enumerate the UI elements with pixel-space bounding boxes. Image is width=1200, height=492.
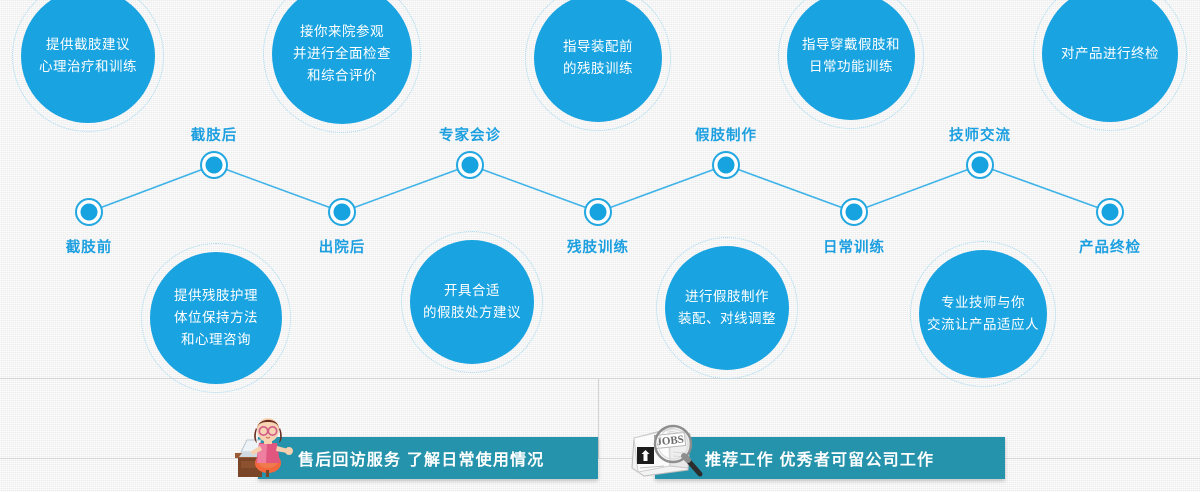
bubble-text-line: 开具合适: [423, 280, 521, 302]
bubble-text: 指导装配前的残肢训练: [557, 36, 639, 81]
bubble-text-line: 的假肢处方建议: [423, 302, 521, 324]
info-bubble-2[interactable]: 接你来院参观并进行全面检查和综合评价: [272, 0, 412, 124]
info-bubble-1[interactable]: 提供截肢建议心理治疗和训练: [21, 0, 155, 123]
bubble-text-line: 和心理咨询: [174, 329, 258, 351]
bubble-text: 开具合适的假肢处方建议: [417, 280, 527, 325]
timeline-node-label-2: 截肢后: [191, 124, 238, 145]
bubble-text-line: 指导装配前: [563, 36, 633, 58]
info-bubble-4[interactable]: 指导穿戴假肢和日常功能训练: [787, 0, 915, 120]
bubble-text: 接你来院参观并进行全面检查和综合评价: [287, 21, 397, 88]
timeline-node-4[interactable]: [456, 151, 484, 179]
timeline-node-label-4: 专家会诊: [439, 124, 501, 145]
banner-service-label: 售后回访服务 了解日常使用情况: [298, 446, 544, 470]
timeline-node-6[interactable]: [712, 151, 740, 179]
bubble-text: 进行假肢制作装配、对线调整: [672, 286, 782, 331]
info-bubble-6[interactable]: 提供残肢护理体位保持方法和心理咨询: [150, 252, 282, 384]
bubble-text-line: 对产品进行终检: [1061, 43, 1159, 65]
timeline-node-7[interactable]: [840, 198, 868, 226]
timeline-node-5[interactable]: [584, 198, 612, 226]
info-bubble-5[interactable]: 对产品进行终检: [1042, 0, 1178, 122]
timeline-node-label-9: 产品终检: [1079, 236, 1141, 257]
timeline-node-1[interactable]: [75, 198, 103, 226]
drop-connector-line: [598, 379, 599, 458]
banner-jobs-label: 推荐工作 优秀者可留公司工作: [705, 446, 934, 470]
banner-after-sales-service[interactable]: 售后回访服务 了解日常使用情况: [258, 437, 598, 479]
info-bubble-7[interactable]: 开具合适的假肢处方建议: [410, 240, 534, 364]
bubble-text: 专业技师与你交流让产品适应人: [921, 292, 1045, 337]
woman-at-desk-icon: [233, 413, 301, 479]
timeline-node-label-7: 日常训练: [823, 236, 885, 257]
timeline-node-9[interactable]: [1096, 198, 1124, 226]
banner-job-recommendation[interactable]: 推荐工作 优秀者可留公司工作: [655, 437, 1005, 479]
info-bubble-9[interactable]: 专业技师与你交流让产品适应人: [919, 250, 1047, 378]
banner-rail-line: [0, 458, 1200, 459]
bubble-text-line: 接你来院参观: [293, 21, 391, 43]
bubble-text-line: 指导穿戴假肢和: [802, 34, 900, 56]
bubble-text-line: 的残肢训练: [563, 58, 633, 80]
timeline-node-3[interactable]: [328, 198, 356, 226]
flowchart-stage: 截肢前截肢后出院后专家会诊残肢训练假肢制作日常训练技师交流产品终检 提供截肢建议…: [0, 0, 1200, 492]
info-bubble-8[interactable]: 进行假肢制作装配、对线调整: [665, 246, 789, 370]
timeline-node-label-1: 截肢前: [66, 236, 113, 257]
bubble-text-line: 专业技师与你: [927, 292, 1039, 314]
bubble-text: 提供截肢建议心理治疗和训练: [33, 34, 143, 79]
timeline-node-2[interactable]: [200, 151, 228, 179]
bubble-text-line: 提供截肢建议: [39, 34, 137, 56]
bubble-text: 对产品进行终检: [1055, 43, 1165, 65]
timeline-node-label-5: 残肢训练: [567, 236, 629, 257]
timeline-node-label-6: 假肢制作: [695, 124, 757, 145]
bubble-dotted-ring: [1033, 0, 1187, 131]
section-divider: [0, 378, 1200, 379]
bubble-text-line: 交流让产品适应人: [927, 314, 1039, 336]
timeline-node-8[interactable]: [966, 151, 994, 179]
bubble-text-line: 心理治疗和训练: [39, 56, 137, 78]
timeline-node-label-3: 出院后: [319, 236, 366, 257]
bubble-text-line: 日常功能训练: [802, 56, 900, 78]
jobs-newspaper-magnifier-icon: JOBS: [628, 418, 706, 480]
info-bubble-3[interactable]: 指导装配前的残肢训练: [534, 0, 662, 122]
bubble-text-line: 和综合评价: [293, 65, 391, 87]
bubble-text: 提供残肢护理体位保持方法和心理咨询: [168, 285, 264, 352]
bubble-text-line: 提供残肢护理: [174, 285, 258, 307]
bubble-text-line: 体位保持方法: [174, 307, 258, 329]
bubble-text: 指导穿戴假肢和日常功能训练: [796, 34, 906, 79]
timeline-node-label-8: 技师交流: [949, 124, 1011, 145]
bubble-text-line: 并进行全面检查: [293, 43, 391, 65]
bubble-text-line: 进行假肢制作: [678, 286, 776, 308]
bubble-text-line: 装配、对线调整: [678, 308, 776, 330]
